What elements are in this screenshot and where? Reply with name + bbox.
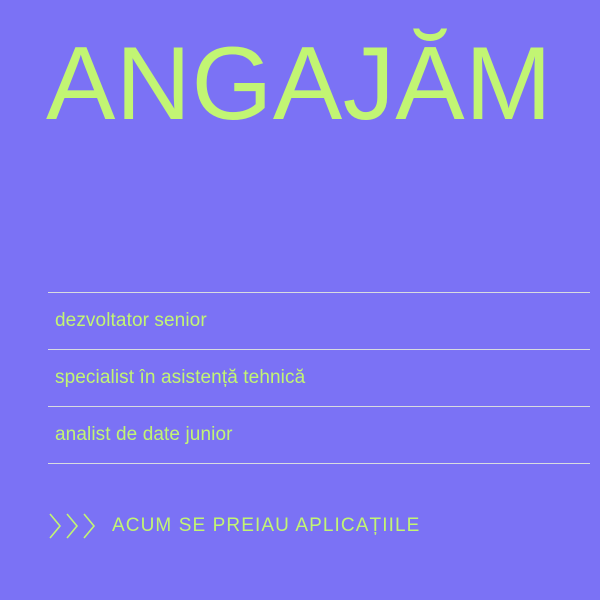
list-item[interactable]: analist de date junior	[48, 407, 590, 463]
job-title-label: analist de date junior	[48, 424, 233, 446]
page-title: ANGAJĂM	[46, 32, 566, 136]
call-to-action: ACUM SE PREIAU APLICAȚIILE	[48, 505, 420, 547]
list-item[interactable]: specialist în asistență tehnică	[48, 350, 590, 406]
job-title-label: dezvoltator senior	[48, 310, 207, 332]
hiring-poster: ANGAJĂM dezvoltator senior specialist în…	[0, 0, 600, 600]
job-list: dezvoltator senior specialist în asisten…	[48, 292, 590, 464]
job-list-divider	[48, 463, 590, 464]
list-item[interactable]: dezvoltator senior	[48, 293, 590, 349]
job-title-label: specialist în asistență tehnică	[48, 367, 305, 389]
cta-label: ACUM SE PREIAU APLICAȚIILE	[112, 515, 420, 537]
chevron-right-triple-icon	[48, 511, 97, 541]
